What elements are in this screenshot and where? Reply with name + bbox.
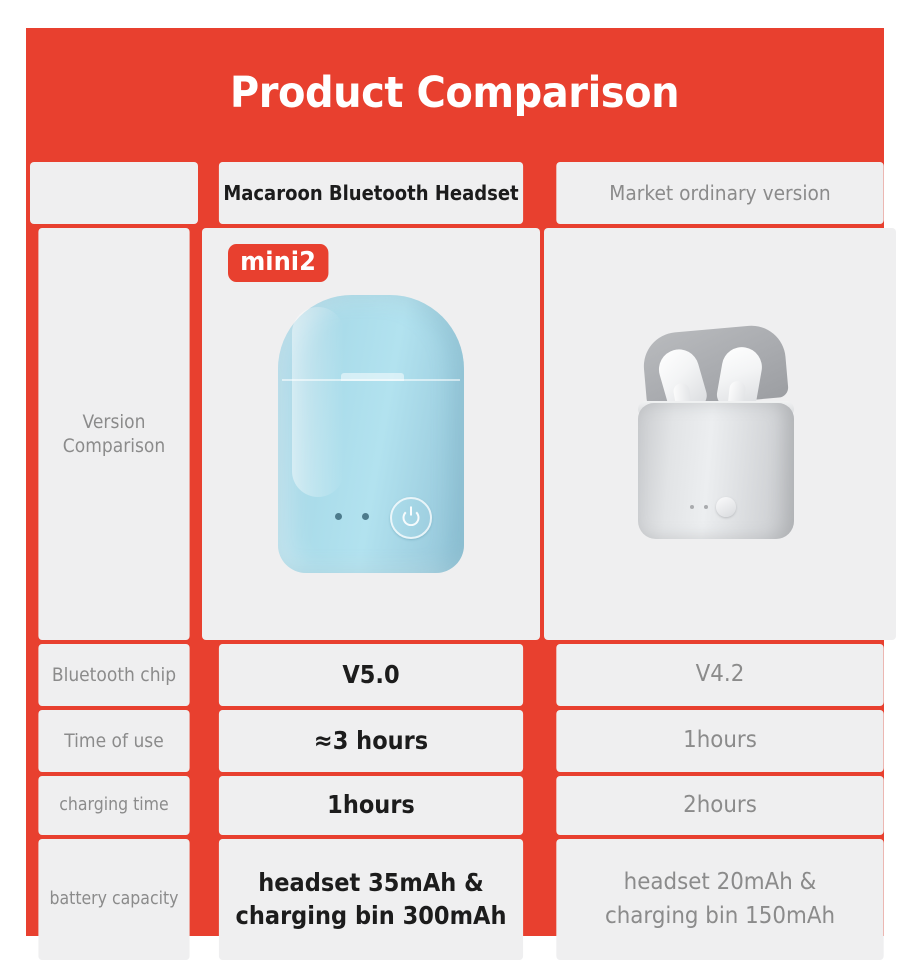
value-market-bluetooth-chip: V4.2 [556, 644, 883, 706]
value-product-battery-capacity: headset 35mAh & charging bin 300mAh [219, 839, 523, 960]
blue-case-highlight [292, 307, 344, 497]
battery-product-line1: headset 35mAh & [236, 867, 507, 900]
column-header-product: Macaroon Bluetooth Headset [219, 162, 523, 224]
product-image-cell: mini2 [202, 228, 540, 640]
power-button-icon [716, 497, 736, 517]
blue-earbud-case-image [278, 295, 464, 573]
value-market-charging-time: 2hours [556, 776, 883, 835]
led-indicator-icon [704, 505, 708, 509]
table-header-blank [30, 162, 198, 224]
row-label-time-of-use: Time of use [38, 710, 189, 772]
led-indicator-icon [335, 513, 342, 520]
value-product-bluetooth-chip: V5.0 [219, 644, 523, 706]
blue-case-lid-notch [341, 373, 404, 381]
value-market-time-of-use: 1hours [556, 710, 883, 772]
row-label-version-comparison: Version Comparison [38, 228, 189, 640]
column-header-market: Market ordinary version [556, 162, 883, 224]
led-indicator-icon [690, 505, 694, 509]
battery-market-line1: headset 20mAh & [605, 866, 835, 899]
power-button-icon [390, 497, 432, 539]
led-indicator-icon [362, 513, 369, 520]
value-product-time-of-use: ≈3 hours [219, 710, 523, 772]
battery-market-line2: charging bin 150mAh [605, 900, 835, 933]
comparison-table: Macaroon Bluetooth Headset Market ordina… [26, 158, 884, 936]
mini2-badge: mini2 [228, 244, 328, 282]
gray-earbud-case-image [632, 323, 808, 545]
version-label-line1: Version [63, 410, 165, 434]
row-label-charging-time: charging time [38, 776, 189, 835]
gray-case-body [638, 403, 794, 539]
title-bar: Product Comparison [26, 28, 884, 158]
row-label-battery-capacity: battery capacity [38, 839, 189, 960]
market-image-cell [544, 228, 896, 640]
version-label-line2: Comparison [63, 434, 165, 458]
power-glyph-stem [410, 507, 412, 516]
value-market-battery-capacity: headset 20mAh & charging bin 150mAh [556, 839, 883, 960]
comparison-panel: Product Comparison Macaroon Bluetooth He… [26, 28, 884, 936]
row-label-bluetooth-chip: Bluetooth chip [38, 644, 189, 706]
battery-product-line2: charging bin 300mAh [236, 900, 507, 933]
value-product-charging-time: 1hours [219, 776, 523, 835]
page-title: Product Comparison [230, 68, 679, 118]
